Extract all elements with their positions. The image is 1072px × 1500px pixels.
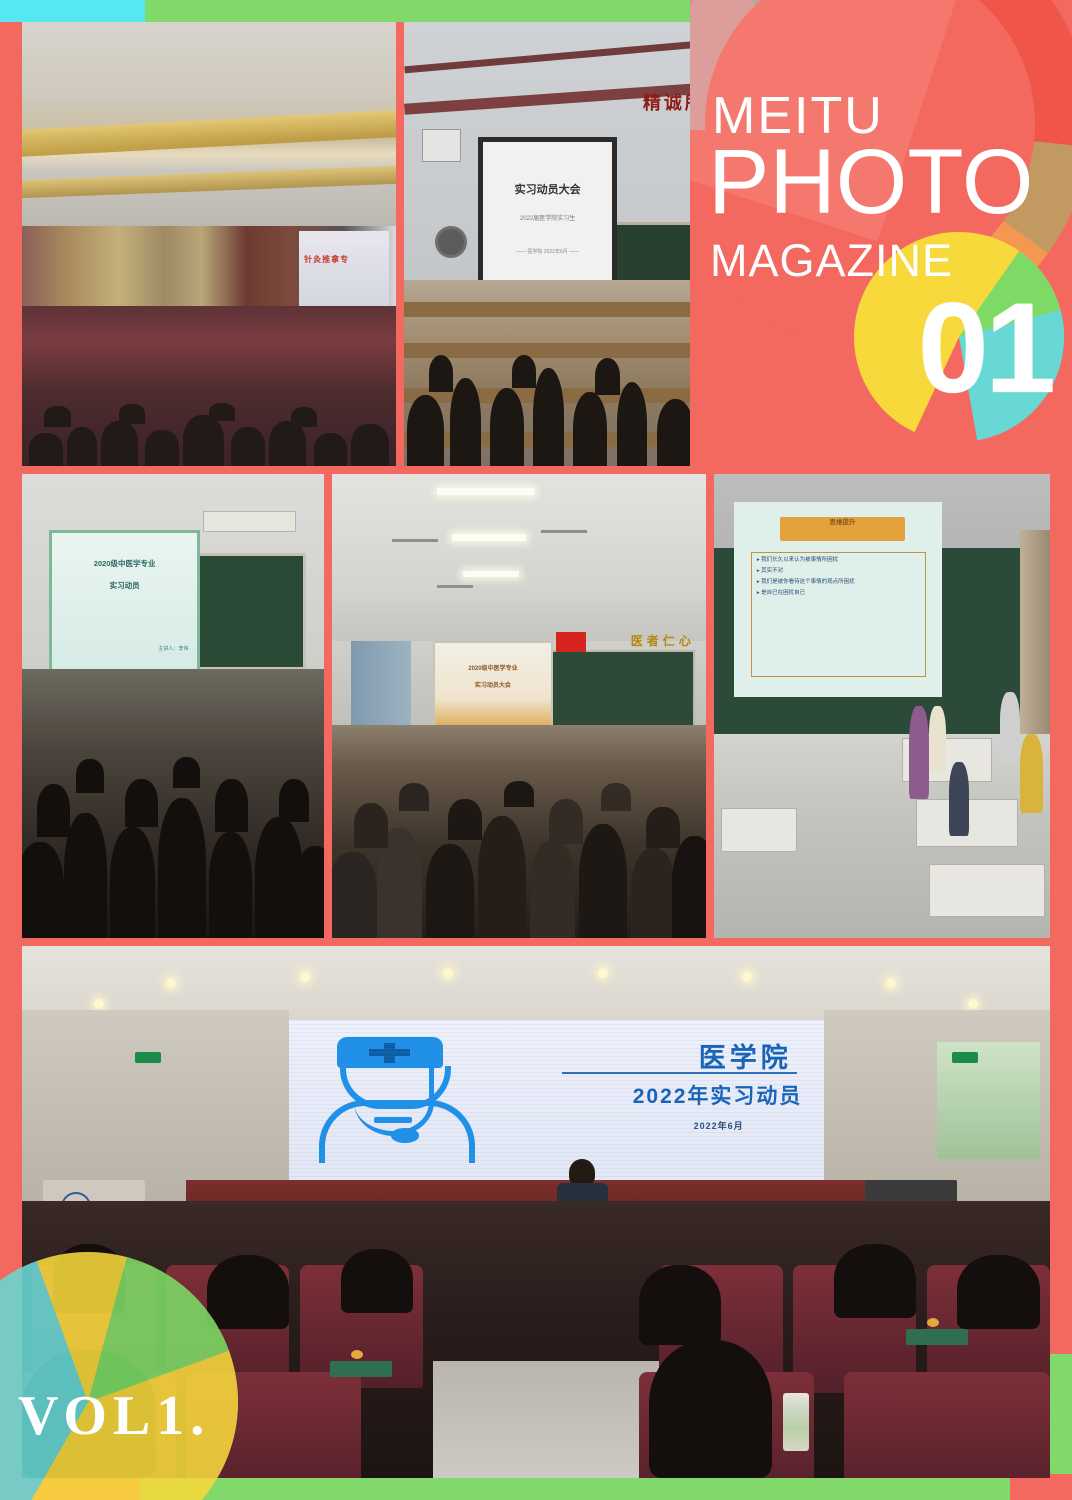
audience-head [639, 1265, 721, 1345]
masthead-panel: MEITU PHOTO MAGAZINE 01 [690, 0, 1072, 470]
ceiling-fan [437, 585, 473, 588]
student [1000, 692, 1020, 762]
slide-title-banner: 思维提升 [780, 517, 905, 540]
slide-bullet: ▸ 我们长久以来认为被事情所困扰 [757, 557, 920, 564]
ceiling-fan [541, 530, 587, 533]
audience-heads [332, 734, 706, 938]
ceiling-light [463, 571, 519, 577]
slide-bullet: ▸ 我们是被你看待这个事情的观点所困扰 [757, 579, 920, 586]
student [1020, 734, 1044, 813]
top-green-band [145, 0, 720, 22]
photo-large-classroom: 医者仁心 2020级中医学专业 实习动员大会 [332, 474, 706, 938]
screen-subtitle: 2022年实习动员 [633, 1080, 803, 1110]
projection-screen: 思维提升 ▸ 我们长久以来认为被事情所困扰 ▸ 其实不对 ▸ 我们是被你看待这个… [734, 502, 942, 697]
screen-presenter: 主讲人：李伟 [158, 645, 188, 652]
national-flag [556, 632, 586, 652]
ceiling-lamp [203, 511, 296, 532]
slide-bullet: ▸ 其实不对 [757, 568, 920, 575]
photo-thinking-lecture: 思维提升 ▸ 我们长久以来认为被事情所困扰 ▸ 其实不对 ▸ 我们是被你看待这个… [714, 474, 1050, 938]
aisle [433, 1361, 659, 1478]
slide-title: 思维提升 [780, 517, 905, 529]
audience-head [957, 1255, 1039, 1329]
audience-heads [22, 697, 324, 938]
photo-tcm-class: 2020级中医学专业 实习动员 主讲人：李伟 [22, 474, 324, 938]
screen-date: 2022年6月 [694, 1119, 744, 1132]
issue-number: 01 [918, 285, 1052, 413]
screen-title: 实习动员大会 [483, 181, 612, 197]
screen-title: 针灸推拿专 [304, 254, 349, 265]
photo-classroom-mobilization: 精诚所 实习动员大会 2022届医学院实习生 —— 医学院 2022年6月 —— [404, 22, 712, 466]
screen-title: 医学院 [699, 1036, 792, 1075]
student-desk [929, 864, 1045, 917]
blackboard [197, 553, 306, 670]
top-cyan-band [0, 0, 146, 22]
wall-fan [435, 226, 467, 258]
lecturer [909, 706, 929, 799]
audience-head [649, 1340, 772, 1478]
photo-auditorium-lecture: 针灸推拿专 [22, 22, 396, 466]
exit-sign-icon [952, 1052, 978, 1063]
desk-tray [906, 1329, 968, 1345]
audience-heads [22, 315, 396, 466]
screen-subtitle: 实习动员大会 [435, 680, 551, 689]
audience-head [341, 1249, 413, 1313]
audience-heads [404, 297, 712, 466]
wall-motto: 医者仁心 [631, 632, 695, 649]
screen-divider [562, 1072, 797, 1074]
exit-sign-icon [135, 1052, 161, 1063]
nurse-illustration-icon [316, 1034, 487, 1177]
student-desk [721, 808, 797, 852]
auditorium-seat [844, 1372, 1050, 1478]
screen-subtitle: 2022届医学院实习生 [483, 213, 612, 222]
ceiling-light [452, 534, 527, 540]
volume-badge [0, 1252, 238, 1500]
ceiling-light [437, 488, 534, 495]
poster-canvas: 针灸推拿专 [0, 0, 1072, 1500]
screen-title: 2020级中医学专业 [52, 558, 197, 569]
projection-screen: 2020级中医学专业 实习动员 主讲人：李伟 [49, 530, 200, 675]
screen-footer: —— 医学院 2022年6月 —— [483, 248, 612, 255]
ceiling-fan [392, 539, 438, 542]
screen-title: 2020级中医学专业 [435, 663, 551, 672]
volume-disc [0, 1252, 238, 1500]
student [929, 706, 946, 771]
water-bottle [783, 1393, 810, 1452]
projector [422, 129, 461, 162]
student [949, 762, 969, 836]
audience-head [834, 1244, 916, 1318]
slide-bullet-box: ▸ 我们长久以来认为被事情所困扰 ▸ 其实不对 ▸ 我们是被你看待这个事情的观点… [751, 552, 926, 677]
slide-bullet: ▸ 是自已在困扰自已 [757, 590, 920, 597]
screen-subtitle: 实习动员 [52, 580, 197, 591]
desk-tray [330, 1361, 392, 1377]
volume-label: VOL1. [18, 1384, 210, 1448]
masthead-line-2: PHOTO [708, 130, 1033, 235]
masthead-line-3: MAGAZINE [710, 235, 953, 287]
